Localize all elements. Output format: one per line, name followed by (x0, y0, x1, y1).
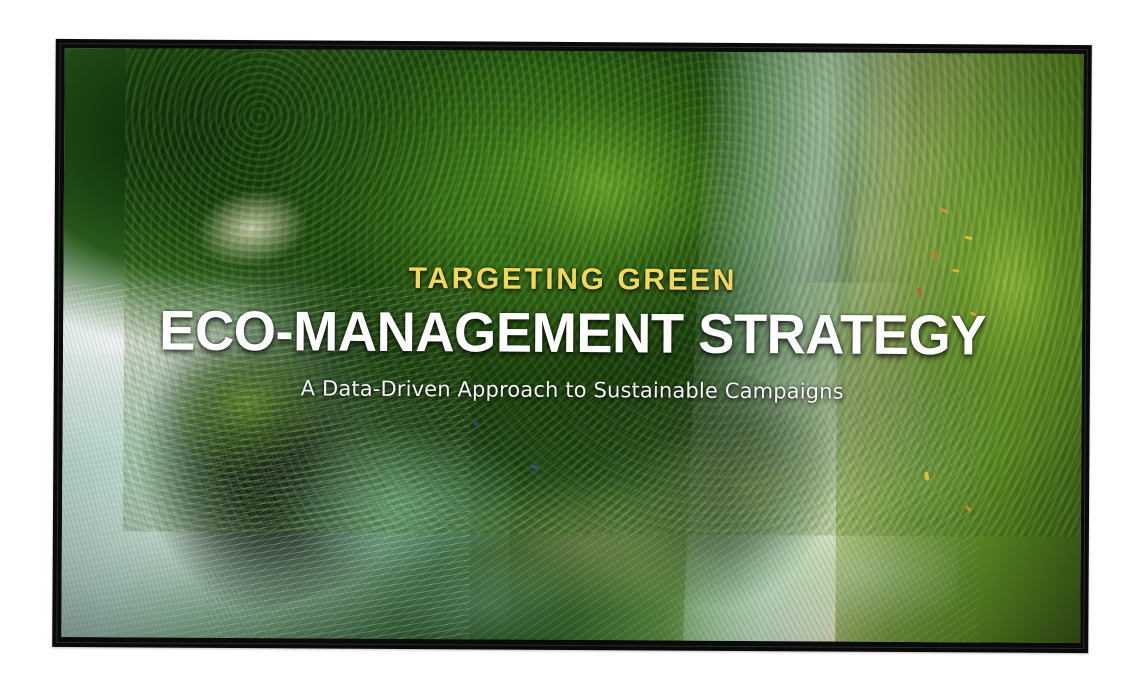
presentation-title-slide[interactable]: TARGETING GREEN ECO-MANAGEMENT STRATEGY … (61, 48, 1083, 643)
page-background: TARGETING GREEN ECO-MANAGEMENT STRATEGY … (0, 0, 1144, 700)
slide-text-block: TARGETING GREEN ECO-MANAGEMENT STRATEGY … (63, 260, 1083, 406)
background-photograph (65, 48, 1084, 54)
slide-eyebrow-heading: TARGETING GREEN (63, 260, 1082, 299)
display-frame: TARGETING GREEN ECO-MANAGEMENT STRATEGY … (52, 39, 1092, 653)
slide-main-title: ECO-MANAGEMENT STRATEGY (78, 301, 1067, 365)
